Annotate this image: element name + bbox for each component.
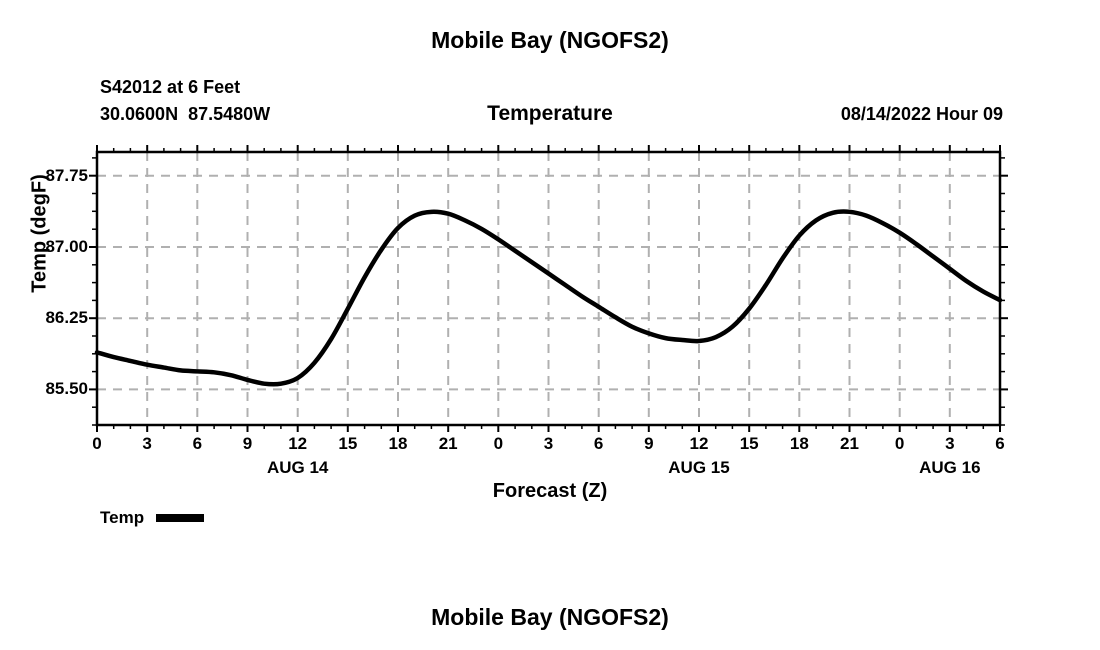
x-tick-label: 21 <box>830 434 870 454</box>
x-axis-title: Forecast (Z) <box>0 480 1100 503</box>
x-tick-label: 3 <box>930 434 970 454</box>
y-tick-label: 85.50 <box>18 379 88 399</box>
page-title-bottom: Mobile Bay (NGOFS2) <box>0 604 1100 631</box>
x-tick-label: 18 <box>779 434 819 454</box>
x-tick-label: 9 <box>629 434 669 454</box>
y-tick-label: 87.00 <box>18 237 88 257</box>
y-tick-label: 86.25 <box>18 308 88 328</box>
day-label: AUG 15 <box>639 458 759 478</box>
x-tick-label: 3 <box>127 434 167 454</box>
grid-layer <box>97 152 1000 425</box>
x-tick-label: 0 <box>880 434 920 454</box>
day-label: AUG 16 <box>890 458 1010 478</box>
x-tick-label: 15 <box>729 434 769 454</box>
legend-swatch-temp <box>156 514 204 522</box>
legend-label-temp: Temp <box>100 508 144 528</box>
x-tick-label: 0 <box>478 434 518 454</box>
x-tick-label: 6 <box>980 434 1020 454</box>
x-tick-label: 6 <box>177 434 217 454</box>
x-tick-label: 3 <box>529 434 569 454</box>
x-tick-label: 6 <box>579 434 619 454</box>
x-tick-label: 12 <box>278 434 318 454</box>
x-tick-label: 21 <box>428 434 468 454</box>
x-tick-label: 9 <box>228 434 268 454</box>
plot-canvas <box>0 0 1100 650</box>
x-tick-label: 18 <box>378 434 418 454</box>
x-tick-label: 15 <box>328 434 368 454</box>
legend: Temp <box>100 508 204 528</box>
x-tick-label: 12 <box>679 434 719 454</box>
chart-page: Mobile Bay (NGOFS2) S42012 at 6 Feet 30.… <box>0 0 1100 650</box>
x-tick-label: 0 <box>77 434 117 454</box>
day-label: AUG 14 <box>238 458 358 478</box>
y-tick-label: 87.75 <box>18 166 88 186</box>
